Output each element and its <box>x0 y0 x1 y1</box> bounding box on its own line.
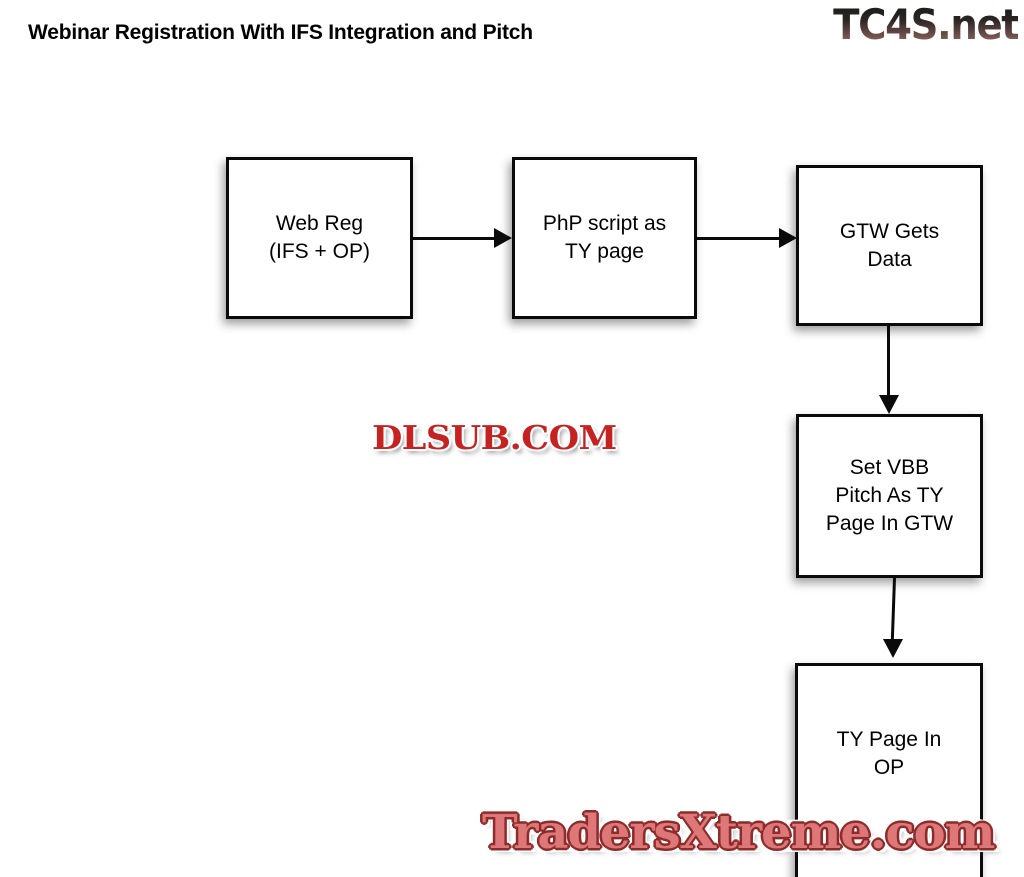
arrow-right-icon <box>779 228 797 248</box>
flowchart-node-web-reg[interactable]: Web Reg (IFS + OP) <box>226 157 413 319</box>
flowchart-node-label: Web Reg (IFS + OP) <box>269 210 370 266</box>
connector-set-vbb-to-ty-page-op-line <box>891 578 896 642</box>
flowchart-node-label: TY Page In OP <box>837 726 942 782</box>
watermark-dlsub: DLSUB.COM <box>372 418 617 457</box>
flowchart-node-php-script[interactable]: PhP script as TY page <box>512 157 697 319</box>
connector-web-reg-to-php-script-line <box>413 237 499 240</box>
flowchart-node-label: PhP script as TY page <box>543 210 666 266</box>
flowchart-node-gtw-gets[interactable]: GTW Gets Data <box>796 165 983 326</box>
diagram-canvas: Webinar Registration With IFS Integratio… <box>0 0 1024 877</box>
arrow-down-icon <box>879 395 899 414</box>
watermark-tradersxtreme: TradersXtreme.com <box>482 805 994 860</box>
tc4s-brand-logo: TC4S.net <box>833 4 1018 46</box>
flowchart-node-set-vbb[interactable]: Set VBB Pitch As TY Page In GTW <box>796 414 983 578</box>
flowchart-node-label: Set VBB Pitch As TY Page In GTW <box>826 454 953 538</box>
connector-gtw-gets-to-set-vbb-line <box>887 326 890 398</box>
arrow-down-icon <box>883 639 903 658</box>
page-title: Webinar Registration With IFS Integratio… <box>28 21 533 45</box>
arrow-right-icon <box>494 228 512 248</box>
connector-php-script-to-gtw-gets-line <box>697 237 782 240</box>
flowchart-node-label: GTW Gets Data <box>840 218 939 274</box>
